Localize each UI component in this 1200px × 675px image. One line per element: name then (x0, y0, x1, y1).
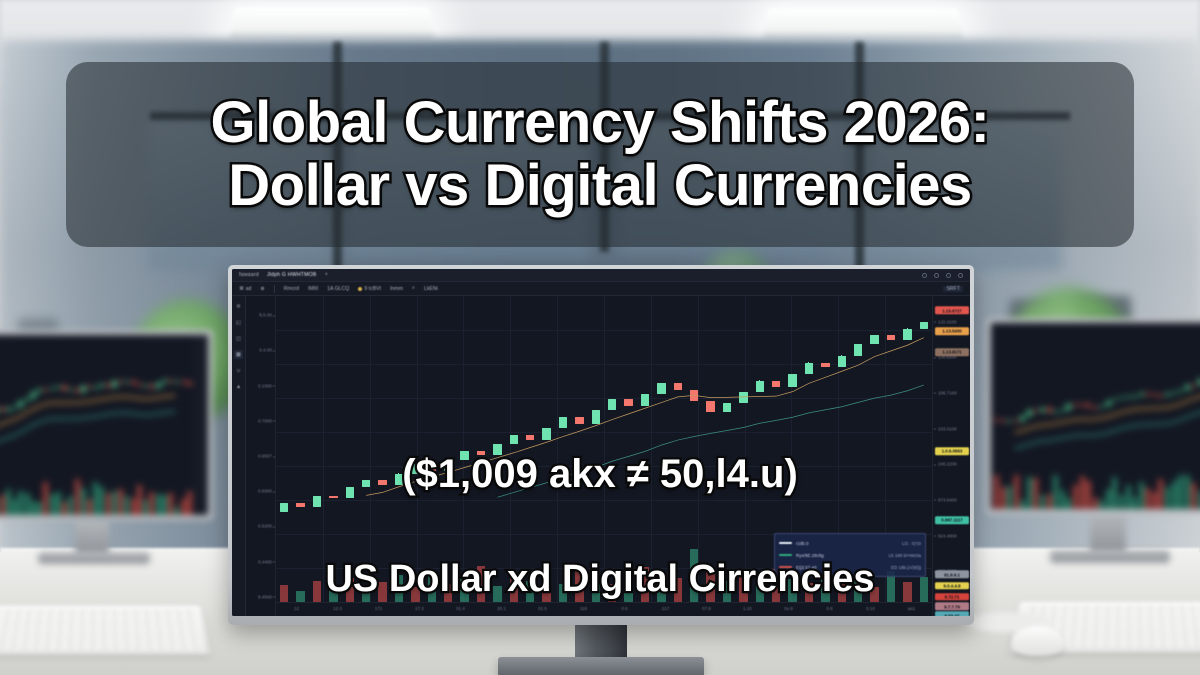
shapes-tool-icon[interactable]: ◫ (234, 334, 243, 343)
time-axis-tick: 17.3 (415, 606, 424, 611)
price-tag[interactable]: 1.15.6727 (935, 307, 969, 315)
time-axis-tick: 20.1 (497, 606, 506, 611)
time-axis-tick: 07.8 (702, 606, 711, 611)
right-axis-tick: 1J2.4100 (938, 319, 957, 324)
toolbar-item-0[interactable]: ⌘ ad (239, 286, 251, 292)
tab-1[interactable]: Jldph G HWHTMOB (267, 272, 317, 278)
indicator-dot-icon (358, 287, 362, 291)
close-button[interactable] (958, 273, 963, 278)
toolbar-item-1[interactable]: ⊕ (260, 286, 264, 292)
legend-row: Rys/9E.28cltgLb 186 b/×Mz0a (779, 553, 921, 558)
time-axis-tick: 12 (294, 606, 299, 611)
legend-series-value: LO . 0ƒSI (902, 541, 921, 546)
left-keyboard[interactable] (0, 606, 210, 655)
search-icon[interactable]: ⌕ (412, 285, 415, 292)
left-axis-tick: 0.7000 (258, 418, 272, 423)
time-axis[interactable]: 1212.317117.301.420.101.51160.621707.81.… (276, 602, 932, 616)
title-line-2: Dollar vs Digital Currencies (228, 156, 971, 216)
legend-color-swatch (779, 542, 792, 544)
computer-mouse[interactable] (1012, 626, 1064, 656)
right-axis-tick: 924.4800 (938, 533, 957, 538)
toolbar-item-4[interactable]: 1A GLCQ (327, 286, 349, 292)
time-axis-tick: 0.10 (866, 606, 875, 611)
legend-series-name: Rys/9E.28cltg (796, 553, 838, 558)
time-axis-tick: 116 (580, 606, 587, 611)
lock-tool-icon[interactable]: ▲ (234, 382, 243, 391)
tab-0[interactable]: fawaard (239, 272, 259, 278)
price-tag[interactable]: 9.7.7.79 (935, 603, 969, 611)
time-axis-tick: 12.3 (333, 606, 342, 611)
time-axis-tick: 217 (662, 606, 670, 611)
toolbar-item-8[interactable]: LkENi (424, 286, 438, 292)
time-axis-tick: 0.6 (621, 606, 627, 611)
time-axis-tick: aa1 (908, 606, 916, 611)
right-axis-tick: 974.6400 (938, 497, 957, 502)
price-tag[interactable]: 1.13.5400 (935, 327, 969, 335)
monitor-stand-neck (575, 623, 627, 661)
restore-button[interactable] (946, 273, 951, 278)
right-axis-tick: 106.7160 (938, 390, 957, 395)
window-controls (922, 273, 963, 278)
toolbar-item-6[interactable]: Inmm (390, 286, 403, 292)
left-axis-tick: fL5.00 (259, 313, 272, 318)
time-axis-tick: 171 (375, 606, 383, 611)
minimize-button[interactable] (922, 273, 927, 278)
crosshair-tool-icon[interactable]: ✲ (234, 302, 243, 311)
title-line-1: Global Currency Shifts 2026: (211, 93, 990, 153)
legend-row: r1tlb.0LO . 0ƒSI (779, 541, 921, 546)
add-tab-button[interactable]: + (325, 272, 329, 278)
chart-toolbar: ⌘ ad ⊕ Rmcrd IMIII 1A GLCQ 9 tcBVt Inmm … (232, 282, 970, 296)
toolbar-separator (274, 285, 275, 293)
time-axis-tick: 01.5 (538, 606, 547, 611)
right-axis-tick: 103.0100 (938, 426, 957, 431)
trendline-tool-icon[interactable]: ◱ (234, 318, 243, 327)
title-banner: Global Currency Shifts 2026: Dollar vs D… (66, 62, 1134, 247)
time-axis-tick: 0.8 (826, 606, 832, 611)
measure-tool-icon[interactable]: ⊞ (234, 350, 243, 359)
legend-series-name: r1tlb.0 (796, 541, 838, 546)
price-tag[interactable]: 9.53.47 (935, 612, 969, 616)
overlay-price-text: ($1,009 akx ≠ 50,l4.u) (0, 452, 1200, 497)
overlay-subtitle-text: US Dollar xd Digital Cirrencies (0, 558, 1200, 601)
maximize-button[interactable] (934, 273, 939, 278)
right-monitor-stand-neck (1090, 514, 1126, 554)
left-monitor-stand-neck (75, 520, 109, 556)
tab-bar: fawaard Jldph G HWHTMOB + (232, 269, 970, 282)
left-axis-tick: 0.5200 (258, 524, 272, 529)
magnet-tool-icon[interactable]: ∪ (234, 366, 243, 375)
left-axis-tick: 0.4.00 (259, 348, 272, 353)
monitor-stand-base (498, 657, 704, 675)
price-tag[interactable]: 0.997.1117 (935, 516, 969, 524)
ceiling-light-panel-left (229, 8, 435, 40)
toolbar-item-5-label: 9 tcBVt (364, 286, 381, 292)
legend-series-value: Lb 186 b/×Mz0a (889, 553, 921, 558)
toolbar-item-3[interactable]: IMIII (308, 286, 318, 292)
left-axis-tick: 0.1000 (258, 383, 272, 388)
time-axis-tick: 1.10 (743, 606, 752, 611)
toolbar-right-group: SRFT (943, 286, 963, 292)
toolbar-right-badge[interactable]: SRFT (943, 286, 963, 292)
legend-color-swatch (779, 554, 792, 556)
toolbar-item-2[interactable]: Rmcrd (284, 286, 299, 292)
time-axis-tick: 0u.9 (784, 606, 793, 611)
toolbar-item-5[interactable]: 9 tcBVt (358, 286, 381, 292)
time-axis-tick: 01.4 (456, 606, 465, 611)
ceiling-light-panel-right (762, 8, 964, 39)
screenshot-root: fawaard Jldph G HWHTMOB + ⌘ ad ⊕ (0, 0, 1200, 675)
price-tag[interactable]: 1.13.9171 (935, 348, 969, 356)
